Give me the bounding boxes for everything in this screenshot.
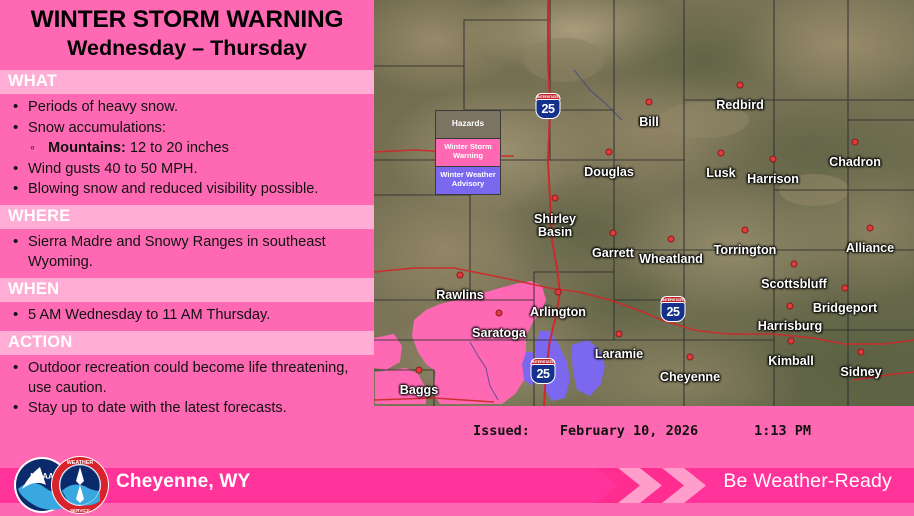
list-item: Snow accumulations: <box>6 119 368 139</box>
svg-text:WEATHER: WEATHER <box>67 460 94 466</box>
list-item: Stay up to date with the latest forecast… <box>6 399 368 419</box>
sub-bullet-label: Mountains: <box>48 140 126 156</box>
interstate-shield-icon: INTERSTATE25 <box>661 296 686 322</box>
city-marker-dot <box>737 82 744 89</box>
section-body-action: Outdoor recreation could become life thr… <box>0 355 374 424</box>
section-header-when: WHEN <box>0 278 374 302</box>
city-marker-dot <box>852 139 859 146</box>
issued-bar: Issued: February 10, 2026 1:13 PM <box>374 406 914 455</box>
noaa-nws-logo: NOAA WEATHER SERVICE <box>10 455 114 516</box>
list-item: Outdoor recreation could become life thr… <box>6 359 368 398</box>
list-item-sub: Mountains: 12 to 20 inches <box>6 139 368 159</box>
map-legend: Hazards Winter Storm Warning Winter Weat… <box>435 110 501 195</box>
list-item: 5 AM Wednesday to 11 AM Thursday. <box>6 306 368 326</box>
list-item: Wind gusts 40 to 50 MPH. <box>6 160 368 180</box>
legend-item-winter-storm-warning: Winter Storm Warning <box>436 138 500 166</box>
legend-title: Hazards <box>436 111 500 138</box>
svg-text:SERVICE: SERVICE <box>70 508 90 513</box>
city-marker-dot <box>867 225 874 232</box>
list-item: Periods of heavy snow. <box>6 98 368 118</box>
sub-bullet-value: 12 to 20 inches <box>126 140 229 156</box>
city-marker-dot <box>606 149 613 156</box>
section-body-when: 5 AM Wednesday to 11 AM Thursday. <box>0 302 374 331</box>
city-marker-dot <box>770 156 777 163</box>
city-marker-dot <box>687 354 694 361</box>
section-body-where: Sierra Madre and Snowy Ranges in southea… <box>0 229 374 277</box>
section-header-what: WHAT <box>0 70 374 94</box>
interstate-shield-icon: INTERSTATE25 <box>531 358 556 384</box>
city-marker-dot <box>555 289 562 296</box>
city-marker-dot <box>787 303 794 310</box>
office-name: Cheyenne, WY <box>116 471 250 493</box>
interstate-shield-icon: INTERSTATE25 <box>536 93 561 119</box>
list-item: Blowing snow and reduced visibility poss… <box>6 180 368 200</box>
issued-date: February 10, 2026 <box>560 423 698 439</box>
city-marker-dot <box>668 236 675 243</box>
winter-storm-warning-graphic: WINTER STORM WARNING Wednesday – Thursda… <box>0 0 914 516</box>
section-header-where: WHERE <box>0 205 374 229</box>
section-header-action: ACTION <box>0 331 374 355</box>
legend-item-winter-weather-advisory: Winter Weather Advisory <box>436 166 500 194</box>
city-marker-dot <box>552 195 559 202</box>
chevron-arrows-icon <box>596 468 706 503</box>
city-marker-dot <box>496 310 503 317</box>
alert-title-timeframe: Wednesday – Thursday <box>6 35 368 62</box>
city-marker-dot <box>791 261 798 268</box>
map-graphic <box>374 0 914 406</box>
alert-text-panel: WINTER STORM WARNING Wednesday – Thursda… <box>0 0 374 455</box>
issued-time: 1:13 PM <box>754 423 811 439</box>
city-marker-dot <box>616 331 623 338</box>
city-marker-dot <box>457 272 464 279</box>
alert-title-primary: WINTER STORM WARNING <box>6 6 368 35</box>
alert-title-block: WINTER STORM WARNING Wednesday – Thursda… <box>0 0 374 70</box>
city-marker-dot <box>842 285 849 292</box>
city-marker-dot <box>742 227 749 234</box>
city-marker-dot <box>646 99 653 106</box>
city-marker-dot <box>610 230 617 237</box>
section-body-what: Periods of heavy snow. Snow accumulation… <box>0 94 374 205</box>
city-marker-dot <box>718 150 725 157</box>
city-marker-dot <box>416 367 423 374</box>
list-item: Sierra Madre and Snowy Ranges in southea… <box>6 233 368 272</box>
svg-text:NOAA: NOAA <box>30 472 54 481</box>
hazard-map[interactable]: Hazards Winter Storm Warning Winter Weat… <box>374 0 914 406</box>
tagline: Be Weather-Ready <box>723 470 892 493</box>
issued-label: Issued: <box>473 423 530 439</box>
city-marker-dot <box>788 338 795 345</box>
footer: NOAA WEATHER SERVICE Cheyenne, WY Be Wea… <box>0 455 914 516</box>
city-marker-dot <box>858 349 865 356</box>
